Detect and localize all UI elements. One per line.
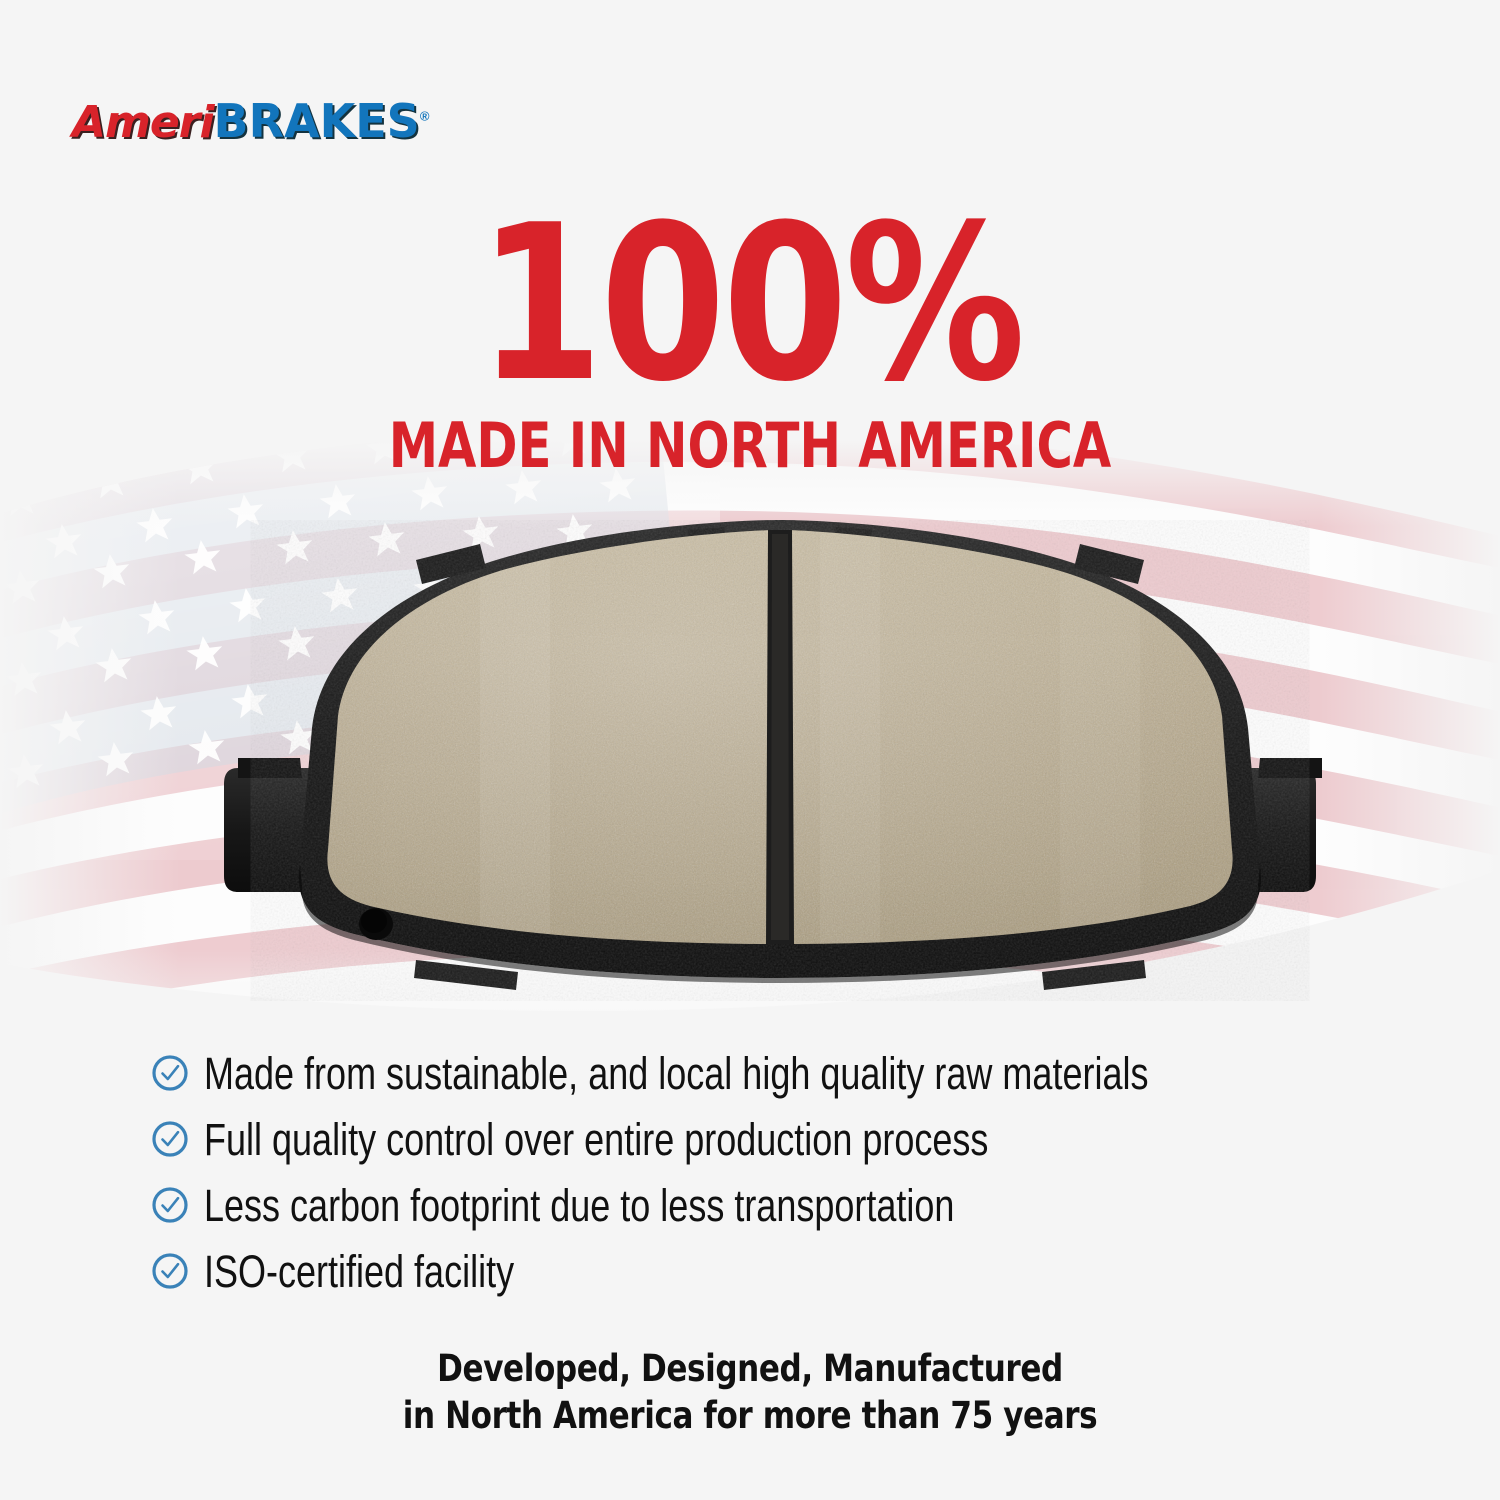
footer-line-1: Developed, Designed, Manufactured [120,1345,1380,1392]
list-item-label: Made from sustainable, and local high qu… [204,1051,1148,1096]
brand-name-brakes: BRAKES [214,94,420,148]
brand-logo: AmeriBRAKES® [72,98,428,145]
page-title-percent: 100% [120,205,1380,403]
check-circle-icon [150,1251,190,1291]
page-subtitle: MADE IN NORTH AMERICA [150,409,1350,482]
benefits-list: Made from sustainable, and local high qu… [150,1040,1400,1304]
list-item: Less carbon footprint due to less transp… [150,1172,1400,1238]
brake-pad-photo [180,520,1360,1020]
brand-name-ameri: Ameri [72,97,214,148]
footer-tagline: Developed, Designed, Manufactured in Nor… [0,1345,1500,1440]
check-circle-icon [150,1119,190,1159]
headline-block: 100% MADE IN NORTH AMERICA [0,205,1500,482]
footer-line-2: in North America for more than 75 years [120,1392,1380,1439]
registered-trademark-icon: ® [420,109,429,124]
list-item: ISO-certified facility [150,1238,1400,1304]
promo-page: AmeriBRAKES® 100% MADE IN NORTH AMERICA [0,0,1500,1500]
list-item: Full quality control over entire product… [150,1106,1400,1172]
list-item: Made from sustainable, and local high qu… [150,1040,1400,1106]
check-circle-icon [150,1185,190,1225]
list-item-label: ISO-certified facility [204,1249,514,1294]
check-circle-icon [150,1053,190,1093]
list-item-label: Full quality control over entire product… [204,1117,988,1162]
list-item-label: Less carbon footprint due to less transp… [204,1183,954,1228]
